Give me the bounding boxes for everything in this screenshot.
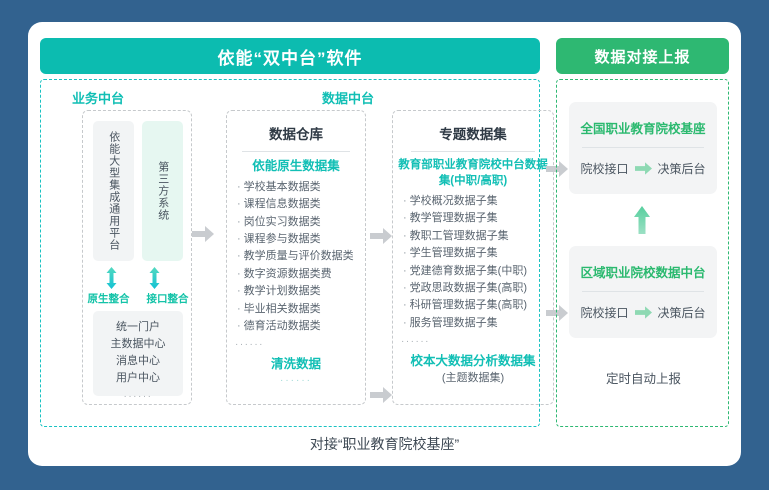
service-item[interactable]: 消息中心 [116,353,160,370]
arrow-region-to-national-icon [633,206,651,234]
double-arrow-interface-icon [149,267,160,289]
integrated-platform-chip[interactable]: 依能大型集成通用平台 [93,121,134,261]
flow-from-label: 院校接口 [580,160,628,177]
native-integration-label: 原生整合 [88,291,130,306]
divider [582,147,703,148]
integration-arrows-row [93,267,183,289]
data-cleaning-dots: ······ [227,375,365,386]
report-header-title: 数据对接上报 [556,38,729,74]
regional-platform-flow: 院校接口 决策后台 [569,304,717,321]
list-item[interactable]: 课程信息数据类 [237,196,365,213]
services-ellipsis: ······ [124,389,153,405]
third-party-system-chip[interactable]: 第三方系统 [142,121,183,261]
software-header-title: 依能“双中台”软件 [40,38,540,74]
business-column-title: 业务中台 [72,88,124,107]
list-item[interactable]: 教职工管理数据子集 [403,228,553,245]
data-cleaning-label: 清洗数据 [227,356,365,372]
national-base-flow: 院校接口 决策后台 [569,160,717,177]
school-bigdata-label: 校本大数据分析数据集 [393,353,553,369]
list-item[interactable]: 教学管理数据子集 [403,210,553,227]
flow-arrow-icon [635,162,652,175]
regional-platform-card[interactable]: 区域职业院校数据中台 院校接口 决策后台 [569,246,717,338]
regional-platform-title: 区域职业院校数据中台 [569,262,717,281]
thematic-dataset-subhead: 教育部职业教育院校中台数据集(中职/高职) [393,158,553,189]
divider [242,151,350,152]
footer-caption: 对接“职业教育院校基座” [28,434,741,454]
list-item[interactable]: 教学计划数据类 [237,283,365,300]
arrow-business-to-warehouse-icon [192,226,214,242]
flow-to-label: 决策后台 [658,160,706,177]
data-warehouse-item-list: 学校基本数据类 课程信息数据类 岗位实习数据类 课程参与数据类 教学质量与评价数… [227,179,365,335]
list-item[interactable]: 毕业相关数据类 [237,301,365,318]
list-item[interactable]: 课程参与数据类 [237,231,365,248]
school-bigdata-sublabel: (主题数据集) [393,369,553,385]
data-column-title: 数据中台 [322,88,374,107]
list-item[interactable]: 党政思政数据子集(高职) [403,280,553,297]
service-item[interactable]: 用户中心 [116,370,160,387]
divider [411,151,536,152]
data-warehouse-box: 数据仓库 依能原生数据集 学校基本数据类 课程信息数据类 岗位实习数据类 课程参… [226,110,366,405]
interface-integration-label: 接口整合 [147,291,189,306]
thematic-dataset-title: 专题数据集 [393,123,553,143]
thematic-ellipsis: ······ [393,336,553,347]
software-panel: 依能“双中台”软件 业务中台 数据中台 依能大型集成通用平台 第三方系统 [40,38,540,428]
integration-labels: 原生整合 接口整合 [79,291,197,306]
divider [582,291,703,292]
list-item[interactable]: 科研管理数据子集(高职) [403,297,553,314]
list-item[interactable]: 学校基本数据类 [237,179,365,196]
national-base-title: 全国职业教育院校基座 [569,118,717,137]
business-platform-box: 依能大型集成通用平台 第三方系统 原生整合 [82,110,192,405]
list-item[interactable]: 党建德育数据子集(中职) [403,263,553,280]
business-services-list: 统一门户 主数据中心 消息中心 用户中心 ······ [93,311,183,396]
data-warehouse-subhead: 依能原生数据集 [227,158,365,175]
thematic-item-list: 学校概况数据子集 教学管理数据子集 教职工管理数据子集 学生管理数据子集 党建德… [393,193,553,332]
flow-from-label: 院校接口 [580,304,628,321]
double-arrow-native-icon [106,267,117,289]
main-card: 依能“双中台”软件 业务中台 数据中台 依能大型集成通用平台 第三方系统 [28,22,741,466]
data-warehouse-ellipsis: ······ [227,339,365,350]
national-base-card[interactable]: 全国职业教育院校基座 院校接口 决策后台 [569,102,717,194]
flow-to-label: 决策后台 [658,304,706,321]
diagram-root: 依能“双中台”软件 业务中台 数据中台 依能大型集成通用平台 第三方系统 [0,0,769,490]
list-item[interactable]: 教学质量与评价数据类 [237,248,365,265]
platform-chip-pair: 依能大型集成通用平台 第三方系统 [93,121,183,261]
list-item[interactable]: 服务管理数据子集 [403,315,553,332]
flow-arrow-icon [635,306,652,319]
thematic-dataset-box: 专题数据集 教育部职业教育院校中台数据集(中职/高职) 学校概况数据子集 教学管… [392,110,554,405]
list-item[interactable]: 学校概况数据子集 [403,193,553,210]
list-item[interactable]: 岗位实习数据类 [237,214,365,231]
service-item[interactable]: 统一门户 [116,319,160,336]
list-item[interactable]: 德育活动数据类 [237,318,365,335]
report-panel: 数据对接上报 全国职业教育院校基座 院校接口 决策后台 [556,38,729,428]
auto-report-label: 定时自动上报 [557,368,730,387]
list-item[interactable]: 数字资源数据类费 [237,266,365,283]
list-item[interactable]: 学生管理数据子集 [403,245,553,262]
arrow-warehouse-to-thematic-top-icon [370,228,392,244]
data-warehouse-title: 数据仓库 [227,123,365,143]
report-body: 全国职业教育院校基座 院校接口 决策后台 [556,79,729,427]
service-item[interactable]: 主数据中心 [111,336,166,353]
arrow-warehouse-to-thematic-bottom-icon [370,387,392,403]
